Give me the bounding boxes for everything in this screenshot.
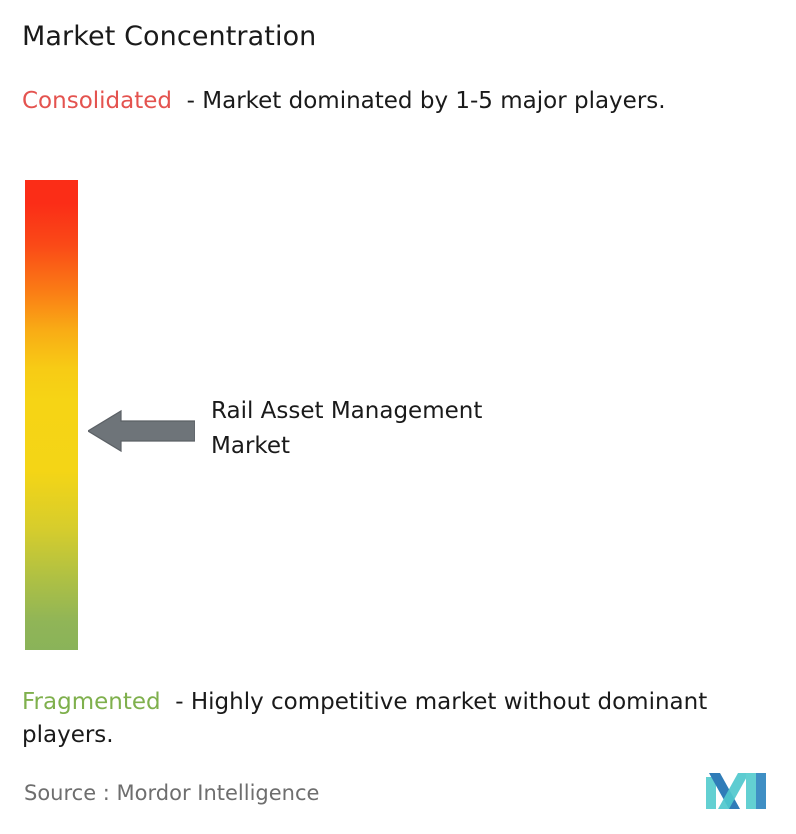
legend-fragmented-keyword: Fragmented	[22, 689, 161, 715]
marker-arrow-icon	[88, 409, 195, 453]
marker-label: Rail Asset Management Market	[211, 394, 611, 464]
legend-fragmented: Fragmented - Highly competitive market w…	[22, 686, 792, 752]
legend-consolidated-keyword: Consolidated	[22, 88, 172, 114]
legend-consolidated: Consolidated - Market dominated by 1-5 m…	[22, 85, 778, 118]
legend-consolidated-separator: -	[172, 88, 202, 114]
marker-label-line1: Rail Asset Management	[211, 394, 611, 429]
mordor-intelligence-logo-icon	[706, 771, 768, 809]
marker-label-line2: Market	[211, 429, 611, 464]
legend-consolidated-description: Market dominated by 1-5 major players.	[202, 88, 665, 114]
legend-fragmented-separator: -	[161, 689, 191, 715]
source-note: Source : Mordor Intelligence	[24, 779, 319, 807]
page-title: Market Concentration	[22, 20, 316, 54]
concentration-gradient-bar	[25, 180, 78, 650]
